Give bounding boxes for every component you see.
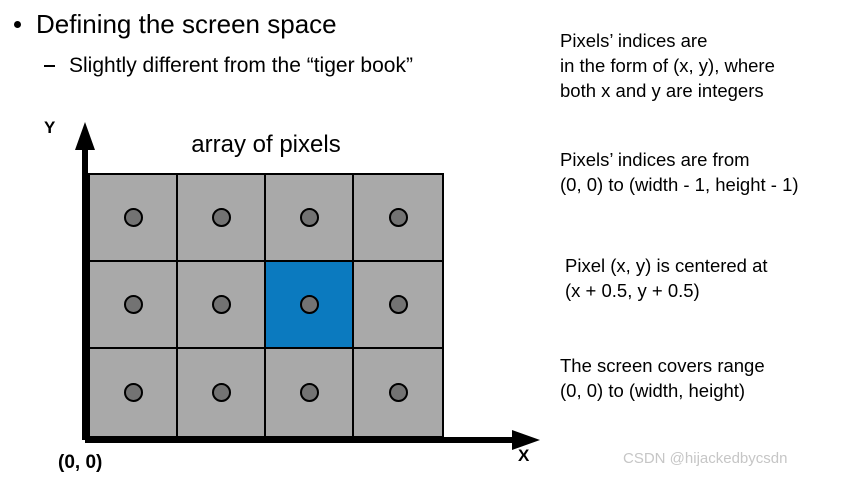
origin-label: (0, 0)	[58, 452, 102, 474]
note-line: Pixels’ indices are	[560, 28, 775, 53]
pixel-center-dot-icon	[124, 208, 143, 227]
pixel-center-dot-icon	[212, 295, 231, 314]
note-line: Pixels’ indices are from	[560, 147, 799, 172]
note-line: both x and y are integers	[560, 78, 775, 103]
pixel-center-dot-icon	[300, 208, 319, 227]
pixel-center-dot-icon	[212, 383, 231, 402]
watermark-text: CSDN @hijackedbycsdn	[623, 450, 787, 467]
note-line: (0, 0) to (width, height)	[560, 378, 765, 403]
pixel-cell[interactable]	[266, 349, 354, 436]
note-block-screen-range: The screen covers range(0, 0) to (width,…	[560, 353, 765, 403]
pixel-cell[interactable]	[90, 262, 178, 349]
pixel-cell[interactable]	[178, 175, 266, 262]
note-line: (0, 0) to (width - 1, height - 1)	[560, 172, 799, 197]
pixel-center-dot-icon	[389, 383, 408, 402]
pixel-center-dot-icon	[300, 383, 319, 402]
note-line: (x + 0.5, y + 0.5)	[565, 278, 768, 303]
note-block-indices-form: Pixels’ indices arein the form of (x, y)…	[560, 28, 775, 103]
pixel-cell[interactable]	[178, 262, 266, 349]
pixel-center-dot-icon	[389, 208, 408, 227]
note-line: The screen covers range	[560, 353, 765, 378]
note-line: in the form of (x, y), where	[560, 53, 775, 78]
pixel-center-dot-icon	[124, 295, 143, 314]
pixel-center-dot-icon	[300, 295, 319, 314]
pixel-cell[interactable]	[178, 349, 266, 436]
pixel-cell[interactable]	[354, 262, 442, 349]
y-axis-label: Y	[44, 118, 55, 138]
pixel-center-dot-icon	[389, 295, 408, 314]
note-block-indices-range: Pixels’ indices are from(0, 0) to (width…	[560, 147, 799, 197]
pixel-cell[interactable]	[90, 349, 178, 436]
pixel-cell[interactable]	[266, 175, 354, 262]
note-block-pixel-center: Pixel (x, y) is centered at(x + 0.5, y +…	[565, 253, 768, 303]
pixel-cell-highlighted[interactable]	[266, 262, 354, 349]
note-line: Pixel (x, y) is centered at	[565, 253, 768, 278]
x-axis-label: X	[518, 446, 529, 466]
pixel-center-dot-icon	[212, 208, 231, 227]
pixel-center-dot-icon	[124, 383, 143, 402]
pixel-cell[interactable]	[354, 175, 442, 262]
pixel-cell[interactable]	[90, 175, 178, 262]
pixel-cell[interactable]	[354, 349, 442, 436]
pixel-grid-diagram: Y X (0, 0) array of pixels	[0, 0, 560, 483]
pixel-grid	[88, 173, 444, 438]
slide-canvas: Defining the screen space Slightly diffe…	[0, 0, 843, 483]
diagram-title: array of pixels	[88, 131, 444, 159]
